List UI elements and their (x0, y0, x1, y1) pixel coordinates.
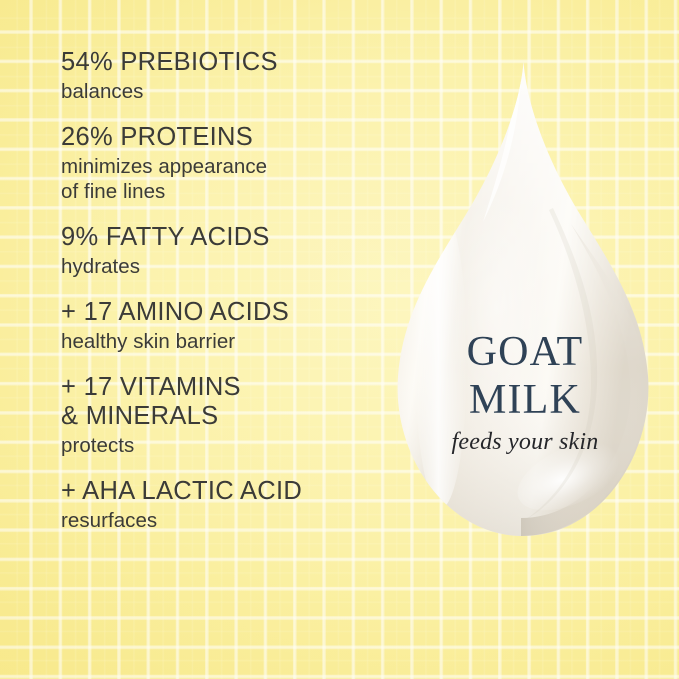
ingredient-benefit: minimizes appearance of fine lines (61, 154, 381, 204)
list-item: 54% PREBIOTICS balances (61, 48, 381, 104)
ingredient-name: + 17 AMINO ACIDS (61, 298, 381, 327)
list-item: + 17 VITAMINS & MINERALS protects (61, 373, 381, 458)
ingredient-list: 54% PREBIOTICS balances 26% PROTEINS min… (61, 48, 381, 533)
list-item: + 17 AMINO ACIDS healthy skin barrier (61, 298, 381, 354)
list-item: + AHA LACTIC ACID resurfaces (61, 477, 381, 533)
list-item: 26% PROTEINS minimizes appearance of fin… (61, 123, 381, 204)
ingredient-benefit: protects (61, 433, 381, 458)
ingredient-name: + AHA LACTIC ACID (61, 477, 381, 506)
droplet-mid-highlight (449, 188, 545, 428)
ingredient-benefit: resurfaces (61, 508, 381, 533)
ingredient-benefit: healthy skin barrier (61, 329, 381, 354)
list-item: 9% FATTY ACIDS hydrates (61, 223, 381, 279)
milk-droplet-graphic (385, 58, 665, 558)
ingredient-name: + 17 VITAMINS & MINERALS (61, 373, 381, 431)
milk-droplet-icon (385, 58, 665, 558)
ingredient-infographic: 54% PREBIOTICS balances 26% PROTEINS min… (0, 0, 679, 679)
ingredient-benefit: balances (61, 79, 381, 104)
ingredient-name: 54% PREBIOTICS (61, 48, 381, 77)
ingredient-benefit: hydrates (61, 254, 381, 279)
ingredient-name: 26% PROTEINS (61, 123, 381, 152)
ingredient-name: 9% FATTY ACIDS (61, 223, 381, 252)
